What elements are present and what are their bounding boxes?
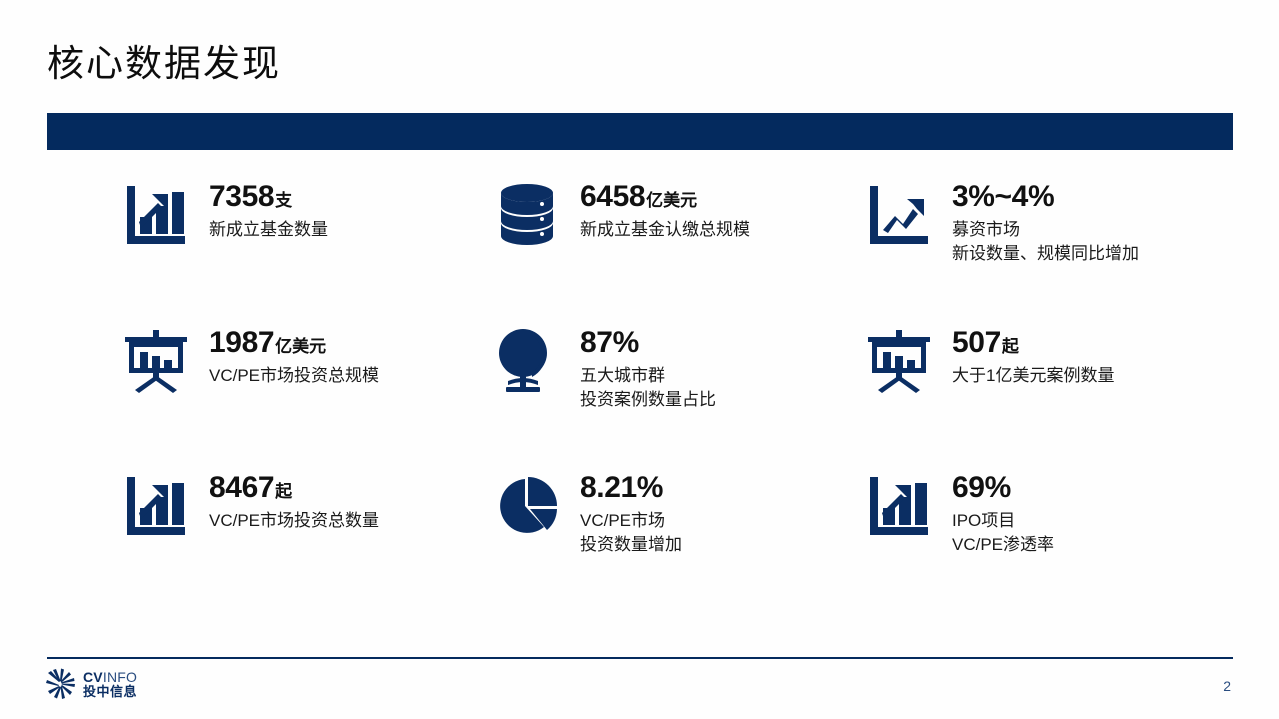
database-icon	[490, 178, 564, 252]
stat-desc-line: IPO项目	[952, 509, 1054, 533]
page-title: 核心数据发现	[47, 44, 281, 85]
stat-card: 8467起 VC/PE市场投资总数量	[47, 463, 432, 592]
stat-card: 1987亿美元 VC/PE市场投资总规模	[47, 318, 432, 463]
stat-value: 69%	[952, 471, 1011, 504]
stat-text: 3%~4% 募资市场 新设数量、规模同比增加	[952, 178, 1139, 266]
stat-desc-line: VC/PE市场投资总数量	[209, 509, 379, 533]
stat-value: 507	[952, 326, 1001, 359]
stat-desc-line: 投资数量增加	[580, 533, 682, 557]
stat-card: 6458亿美元 新成立基金认缴总规模	[432, 172, 822, 318]
stat-desc-line: 新成立基金数量	[209, 218, 328, 242]
stat-unit: 亿美元	[275, 337, 326, 356]
stat-value: 1987	[209, 326, 274, 359]
stat-text: 8467起 VC/PE市场投资总数量	[209, 469, 379, 533]
stat-desc-line: 五大城市群	[580, 364, 716, 388]
stat-value-line: 8.21%	[580, 473, 682, 503]
presentation-chart-icon	[862, 324, 936, 398]
stat-desc-line: 投资案例数量占比	[580, 388, 716, 412]
stat-text: 69% IPO项目 VC/PE渗透率	[952, 469, 1054, 557]
footer-divider	[47, 657, 1233, 659]
slide-root: 核心数据发现 7358支 新成立基金数量	[0, 0, 1279, 719]
logo-en-bold: CV	[83, 669, 103, 685]
stat-card: 507起 大于1亿美元案例数量	[822, 318, 1233, 463]
stat-desc-line: 大于1亿美元案例数量	[952, 364, 1114, 388]
stat-unit: 支	[275, 191, 292, 210]
stat-unit: 亿美元	[646, 191, 697, 210]
stat-desc-line: VC/PE渗透率	[952, 533, 1054, 557]
stat-grid: 7358支 新成立基金数量 6458亿美元	[47, 172, 1233, 592]
bar-chart-arrow-icon	[862, 469, 936, 543]
line-chart-arrow-icon	[862, 178, 936, 252]
stat-text: 1987亿美元 VC/PE市场投资总规模	[209, 324, 379, 388]
stat-card: 87% 五大城市群 投资案例数量占比	[432, 318, 822, 463]
logo-en-wrap: CVINFO	[83, 670, 137, 685]
stat-text: 507起 大于1亿美元案例数量	[952, 324, 1114, 388]
stat-value-line: 3%~4%	[952, 182, 1139, 212]
stat-card: 69% IPO项目 VC/PE渗透率	[822, 463, 1233, 592]
page-number: 2	[1223, 678, 1231, 694]
stat-desc-line: 新成立基金认缴总规模	[580, 218, 750, 242]
globe-icon	[490, 324, 564, 398]
stat-value: 7358	[209, 180, 274, 213]
sunburst-logo-icon	[44, 668, 76, 700]
stat-desc-line: VC/PE市场投资总规模	[209, 364, 379, 388]
stat-card: 8.21% VC/PE市场 投资数量增加	[432, 463, 822, 592]
bar-chart-arrow-icon	[119, 469, 193, 543]
header-accent-band	[47, 113, 1233, 150]
logo-cn: 投中信息	[83, 685, 137, 699]
stat-value-line: 87%	[580, 328, 716, 358]
stat-card: 3%~4% 募资市场 新设数量、规模同比增加	[822, 172, 1233, 318]
stat-desc-line: 新设数量、规模同比增加	[952, 242, 1139, 266]
logo-text: CVINFO 投中信息	[83, 670, 137, 698]
stat-unit: 起	[275, 482, 292, 501]
stat-text: 8.21% VC/PE市场 投资数量增加	[580, 469, 682, 557]
stat-value: 8467	[209, 471, 274, 504]
footer-logo: CVINFO 投中信息	[44, 668, 137, 700]
stat-value-line: 69%	[952, 473, 1054, 503]
stat-value: 8.21%	[580, 471, 663, 504]
stat-value: 3%~4%	[952, 180, 1054, 213]
stat-value-line: 1987亿美元	[209, 328, 379, 358]
stat-value-line: 7358支	[209, 182, 328, 212]
stat-value: 87%	[580, 326, 639, 359]
stat-desc-line: 募资市场	[952, 218, 1139, 242]
pie-chart-icon	[490, 469, 564, 543]
stat-text: 6458亿美元 新成立基金认缴总规模	[580, 178, 750, 242]
stat-value-line: 8467起	[209, 473, 379, 503]
presentation-chart-icon	[119, 324, 193, 398]
logo-en-light: INFO	[103, 669, 137, 685]
stat-value: 6458	[580, 180, 645, 213]
stat-text: 7358支 新成立基金数量	[209, 178, 328, 242]
stat-unit: 起	[1002, 337, 1019, 356]
stat-value-line: 507起	[952, 328, 1114, 358]
stat-value-line: 6458亿美元	[580, 182, 750, 212]
stat-desc-line: VC/PE市场	[580, 509, 682, 533]
stat-card: 7358支 新成立基金数量	[47, 172, 432, 318]
stat-text: 87% 五大城市群 投资案例数量占比	[580, 324, 716, 412]
bar-chart-arrow-icon	[119, 178, 193, 252]
